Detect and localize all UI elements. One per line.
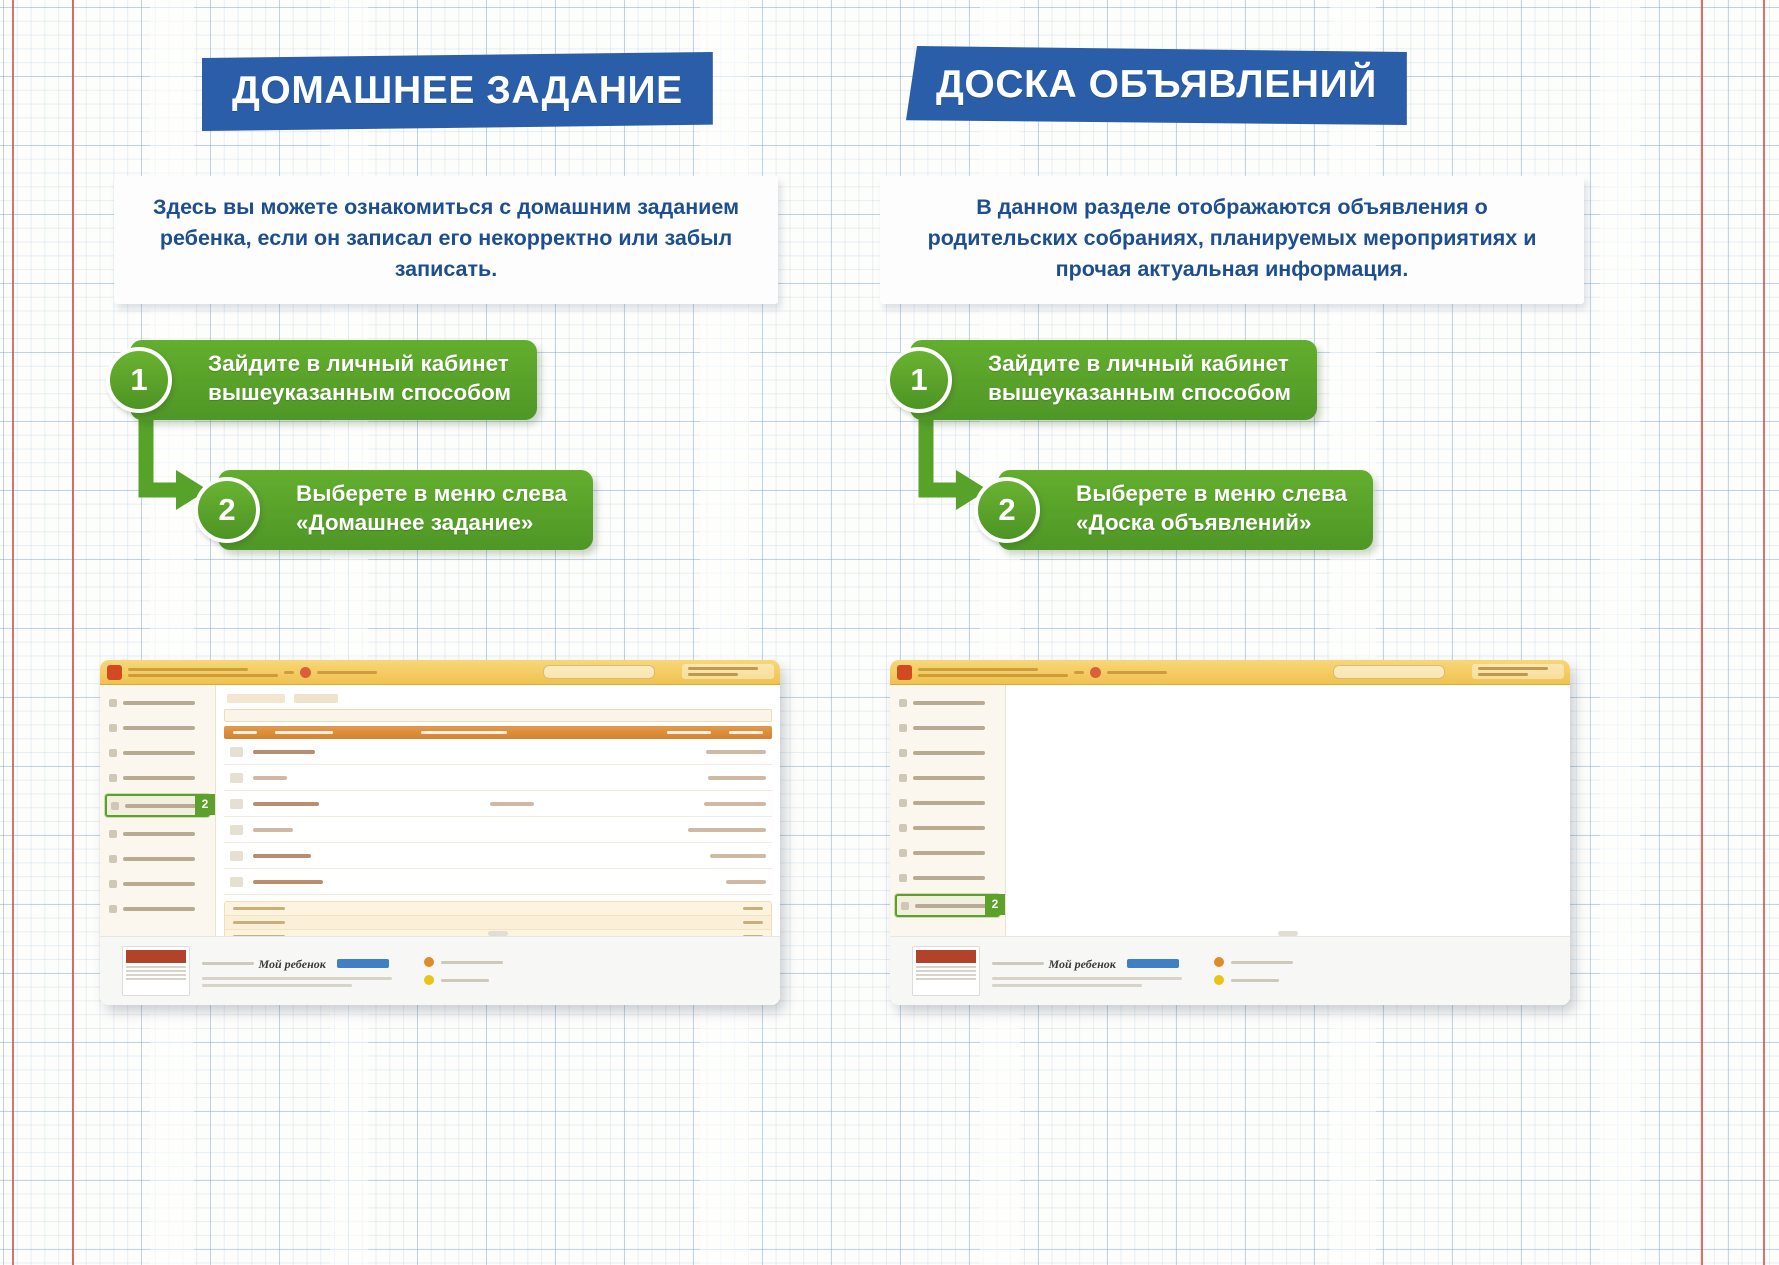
school-icon bbox=[899, 774, 907, 782]
step-2-homework: 2 Выберете в меню слева «Домашнее задани… bbox=[218, 470, 593, 550]
school-icon bbox=[109, 774, 117, 782]
table-row[interactable] bbox=[224, 843, 772, 869]
sidebar-item-ocenki[interactable]: Оценки bbox=[895, 744, 1000, 761]
sidebar-item-shkola[interactable]: Школа bbox=[105, 769, 210, 786]
footer-subscribe-button[interactable] bbox=[1127, 959, 1179, 968]
step-badge-2: 2 bbox=[195, 794, 215, 815]
sidebar-item-label: Общение bbox=[913, 851, 985, 855]
sidebar-item-domashnee-zadanie[interactable]: Домашнее задание bbox=[895, 794, 1000, 811]
sidebar-item-moya-stranica[interactable]: Моя страница bbox=[105, 875, 210, 892]
step-2-noticeboard: 2 Выберете в меню слева «Доска объявлени… bbox=[998, 470, 1373, 550]
sidebar-item-raspisanie[interactable]: Расписание bbox=[105, 719, 210, 736]
user-menu[interactable] bbox=[1472, 664, 1564, 679]
sidebar-item-label: Дневник bbox=[123, 701, 195, 705]
user-menu[interactable] bbox=[682, 664, 774, 679]
sidebar-item-label: Расписание bbox=[913, 726, 985, 730]
screenshot-topbar bbox=[100, 660, 780, 685]
step-1-homework: 1 Зайдите в личный кабинет вышеуказанным… bbox=[130, 340, 537, 420]
footer-brand-name: Мой ребенок bbox=[1048, 957, 1115, 971]
sidebar-item-label: Моя страница bbox=[123, 882, 195, 886]
intro-text-homework: Здесь вы можете ознакомиться с домашним … bbox=[114, 176, 778, 304]
portfolio-icon bbox=[109, 830, 117, 838]
sidebar-item-shkola[interactable]: Школа bbox=[895, 769, 1000, 786]
noticeboard-icon bbox=[109, 905, 117, 913]
diary-icon bbox=[109, 699, 117, 707]
section-homework: ДОМАШНЕЕ ЗАДАНИЕ Здесь вы можете ознаком… bbox=[100, 0, 860, 110]
sidebar-item-dnevnik[interactable]: Дневник bbox=[105, 694, 210, 711]
notification-icon[interactable] bbox=[1090, 667, 1101, 678]
screenshot-noticeboard: Дневник Расписание Оценки Школа Домашнее… bbox=[890, 660, 1570, 1005]
sidebar-item-label: Общение bbox=[123, 857, 195, 861]
sidebar-item-obshchenie[interactable]: Общение bbox=[895, 844, 1000, 861]
notification-icon[interactable] bbox=[300, 667, 311, 678]
table-row[interactable] bbox=[224, 791, 772, 817]
screenshot-footer: Мой ребенок bbox=[890, 936, 1570, 1005]
screenshot-search-field[interactable] bbox=[224, 709, 772, 722]
page-margin-rule-left bbox=[72, 0, 74, 1265]
sidebar-item-label: Портфолио bbox=[913, 826, 985, 830]
sidebar-item-obshchenie[interactable]: Общение bbox=[105, 850, 210, 867]
chat-icon bbox=[109, 855, 117, 863]
step-badge-2: 2 bbox=[985, 894, 1005, 915]
grades-icon bbox=[899, 749, 907, 757]
section-noticeboard: ДОСКА ОБЪЯВЛЕНИЙ В данном разделе отобра… bbox=[880, 0, 1640, 110]
sidebar-item-raspisanie[interactable]: Расписание bbox=[895, 719, 1000, 736]
sidebar-item-label: Доска объявлений bbox=[915, 904, 987, 908]
row-icon bbox=[230, 851, 243, 861]
sidebar-item-doska-obyavleniy[interactable]: Доска объявлений 2 bbox=[895, 894, 1000, 917]
step-2-number: 2 bbox=[974, 477, 1040, 543]
step-1-number: 1 bbox=[106, 347, 172, 413]
brochure-thumbnail bbox=[122, 946, 190, 996]
row-icon bbox=[230, 877, 243, 887]
sidebar-item-label: Школа bbox=[913, 776, 985, 780]
step-2-label: Выберете в меню слева «Доска объявлений» bbox=[1076, 480, 1347, 538]
row-icon bbox=[230, 799, 243, 809]
summary-row bbox=[225, 916, 771, 930]
row-icon bbox=[230, 747, 243, 757]
sidebar-item-label: Домашнее задание bbox=[125, 804, 197, 808]
footer-brand-name: Мой ребенок bbox=[258, 957, 325, 971]
homework-icon bbox=[111, 802, 119, 810]
sidebar-item-portfolio[interactable]: Портфолио bbox=[895, 819, 1000, 836]
screenshot-homework: Дневник Расписание Оценки Школа Домашнее… bbox=[100, 660, 780, 1005]
step-2-number: 2 bbox=[194, 477, 260, 543]
homework-icon bbox=[899, 799, 907, 807]
screenshot-tabs bbox=[227, 694, 772, 703]
sidebar-item-moya-stranica[interactable]: Моя страница bbox=[895, 869, 1000, 886]
sidebar-item-domashnee-zadanie[interactable]: Домашнее задание 2 bbox=[105, 794, 210, 817]
noticeboard-icon bbox=[901, 902, 909, 910]
table-row[interactable] bbox=[224, 739, 772, 765]
calendar-icon bbox=[109, 724, 117, 732]
info-icon bbox=[1214, 957, 1224, 967]
site-logo-icon bbox=[897, 665, 912, 680]
chat-icon bbox=[899, 849, 907, 857]
heading-ribbon-wrap: ДОСКА ОБЪЯВЛЕНИЙ bbox=[880, 0, 1640, 110]
sidebar-item-label: Моя страница bbox=[913, 876, 985, 880]
portfolio-icon bbox=[899, 824, 907, 832]
page-title-noticeboard: ДОСКА ОБЪЯВЛЕНИЙ bbox=[906, 46, 1407, 125]
brochure-thumbnail bbox=[912, 946, 980, 996]
intro-text-noticeboard: В данном разделе отображаются объявления… bbox=[880, 176, 1584, 304]
page-margin-rule-outer-right bbox=[1763, 0, 1765, 1265]
tab-item[interactable] bbox=[294, 694, 338, 703]
grades-icon bbox=[109, 749, 117, 757]
sidebar-item-label: Расписание bbox=[123, 726, 195, 730]
table-row[interactable] bbox=[224, 869, 772, 895]
step-1-label: Зайдите в личный кабинет вышеуказанным с… bbox=[988, 350, 1291, 408]
step-1-label: Зайдите в личный кабинет вышеуказанным с… bbox=[208, 350, 511, 408]
row-icon bbox=[230, 773, 243, 783]
sidebar-item-label: Школа bbox=[123, 776, 195, 780]
page-margin-rule-outer-left bbox=[12, 0, 14, 1265]
sidebar-item-ocenki[interactable]: Оценки bbox=[105, 744, 210, 761]
sidebar-item-label: Оценки bbox=[913, 751, 985, 755]
diary-icon bbox=[899, 699, 907, 707]
sidebar-item-label: Портфолио bbox=[123, 832, 195, 836]
screenshot-footer: Мой ребенок bbox=[100, 936, 780, 1005]
profile-icon bbox=[109, 880, 117, 888]
page-margin-rule-right bbox=[1701, 0, 1703, 1265]
step-1-number: 1 bbox=[886, 347, 952, 413]
table-row[interactable] bbox=[224, 765, 772, 791]
info-icon bbox=[424, 957, 434, 967]
profile-icon bbox=[899, 874, 907, 882]
calendar-icon bbox=[899, 724, 907, 732]
sidebar-item-portfolio[interactable]: Портфолио bbox=[105, 825, 210, 842]
footer-subscribe-button[interactable] bbox=[337, 959, 389, 968]
page-title-homework: ДОМАШНЕЕ ЗАДАНИЕ bbox=[202, 52, 713, 131]
sidebar-item-label: Домашнее задание bbox=[913, 801, 985, 805]
step-1-noticeboard: 1 Зайдите в личный кабинет вышеуказанным… bbox=[910, 340, 1317, 420]
step-2-label: Выберете в меню слева «Домашнее задание» bbox=[296, 480, 567, 538]
row-icon bbox=[230, 825, 243, 835]
sidebar-item-doska-obyavleniy[interactable]: Доска объявлений bbox=[105, 900, 210, 917]
search-input[interactable] bbox=[543, 665, 655, 679]
table-row[interactable] bbox=[224, 817, 772, 843]
help-icon bbox=[1214, 975, 1224, 985]
summary-row bbox=[225, 902, 771, 916]
screenshot-topbar bbox=[890, 660, 1570, 685]
tab-item[interactable] bbox=[227, 694, 285, 703]
sidebar-item-label: Доска объявлений bbox=[123, 907, 195, 911]
site-logo-icon bbox=[107, 665, 122, 680]
heading-ribbon-wrap: ДОМАШНЕЕ ЗАДАНИЕ bbox=[100, 0, 860, 110]
help-icon bbox=[424, 975, 434, 985]
sidebar-item-label: Оценки bbox=[123, 751, 195, 755]
search-input[interactable] bbox=[1333, 665, 1445, 679]
sidebar-item-label: Дневник bbox=[913, 701, 985, 705]
screenshot-table-header bbox=[224, 726, 772, 739]
sidebar-item-dnevnik[interactable]: Дневник bbox=[895, 694, 1000, 711]
